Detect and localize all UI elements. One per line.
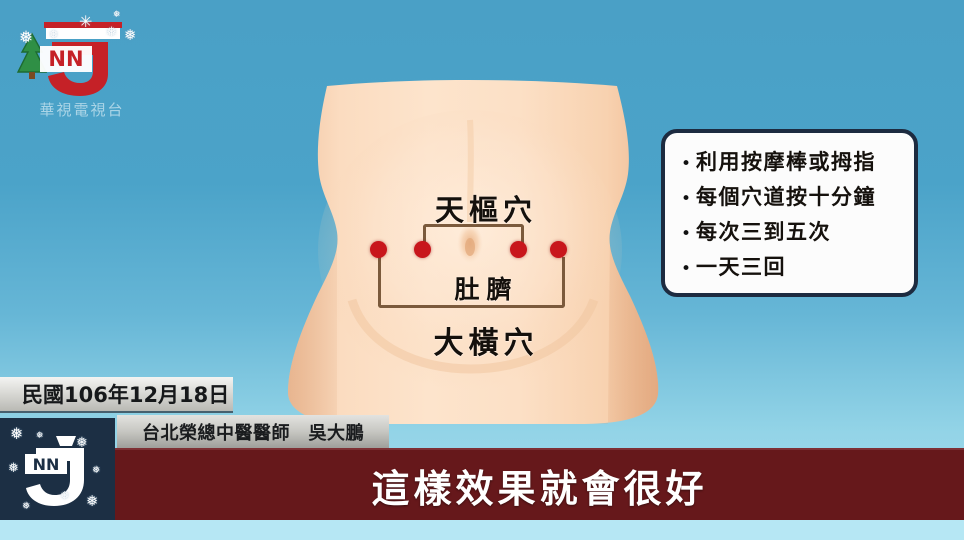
instruction-text: 一天三回 bbox=[696, 251, 786, 281]
snowflake-icon: ❅ bbox=[106, 26, 117, 39]
instruction-text: 每次三到五次 bbox=[696, 216, 831, 246]
snowflake-icon: ❅ bbox=[22, 502, 30, 512]
acupoint-dot-tianshu-right bbox=[510, 241, 527, 258]
station-logo-bottom: NN ❅ ❅ ❅ ❅ ❅ ❅ ❅ ❅ bbox=[0, 418, 115, 520]
svg-text:NN: NN bbox=[33, 455, 60, 474]
date-bar: 民國106年12月18日 bbox=[0, 377, 233, 413]
station-caption: 華視電視台 bbox=[12, 99, 152, 120]
svg-text:NN: NN bbox=[48, 47, 83, 71]
snowflake-icon: ❅ bbox=[86, 494, 99, 509]
snowflake-icon: ❅ bbox=[92, 466, 100, 476]
bullet-icon: • bbox=[681, 226, 696, 243]
snowflake-icon: ❅ bbox=[10, 426, 23, 442]
snowflake-icon: ❅ bbox=[76, 436, 88, 450]
snowflake-icon: ❅ bbox=[36, 432, 44, 441]
acupoint-dot-daheng-right bbox=[550, 241, 567, 258]
instruction-text: 每個穴道按十分鐘 bbox=[696, 181, 876, 211]
snowflake-icon: ❅ bbox=[8, 462, 19, 475]
station-logo-top: NN ❅ ❅ ✳ ❅ ❅ ❅ 華視電視台 bbox=[0, 0, 168, 140]
acupoint-dot-daheng-left bbox=[370, 241, 387, 258]
instruction-item: • 每個穴道按十分鐘 bbox=[681, 181, 904, 211]
snowflake-icon: ❅ bbox=[49, 29, 58, 40]
subtitle-text: 這樣效果就會很好 bbox=[371, 458, 707, 513]
snowflake-icon: ❅ bbox=[60, 490, 69, 501]
date-text: 民國106年12月18日 bbox=[22, 379, 229, 409]
acupoint-dot-tianshu-left bbox=[414, 241, 431, 258]
snowflake-icon: ❅ bbox=[113, 11, 121, 20]
letters-nn: NN bbox=[40, 46, 92, 72]
label-lower-acupoint: 大橫穴 bbox=[0, 318, 964, 362]
instruction-item: • 每次三到五次 bbox=[681, 216, 904, 246]
bullet-icon: • bbox=[681, 191, 696, 208]
bottom-strip bbox=[0, 520, 964, 540]
instruction-item: • 利用按摩棒或拇指 bbox=[681, 146, 904, 176]
snowflake-icon: ❅ bbox=[124, 28, 137, 43]
byline-text: 台北榮總中醫醫師 吳大鵬 bbox=[142, 419, 364, 445]
snowflake-icon: ✳ bbox=[79, 14, 92, 30]
instruction-text: 利用按摩棒或拇指 bbox=[696, 146, 876, 176]
broadcast-frame: 天樞穴 肚臍 大橫穴 • 利用按摩棒或拇指 • 每個穴道按十分鐘 • 每次三到五… bbox=[0, 0, 964, 540]
letters-nn-bottom: NN bbox=[25, 454, 67, 474]
snowflake-icon: ❅ bbox=[19, 30, 33, 47]
instruction-item: • 一天三回 bbox=[681, 251, 904, 281]
byline-bar: 台北榮總中醫醫師 吳大鵬 bbox=[117, 415, 389, 449]
subtitle-bar: 這樣效果就會很好 bbox=[115, 448, 964, 520]
bullet-icon: • bbox=[681, 156, 696, 173]
instructions-panel: • 利用按摩棒或拇指 • 每個穴道按十分鐘 • 每次三到五次 • 一天三回 bbox=[661, 129, 918, 297]
bullet-icon: • bbox=[681, 261, 696, 278]
